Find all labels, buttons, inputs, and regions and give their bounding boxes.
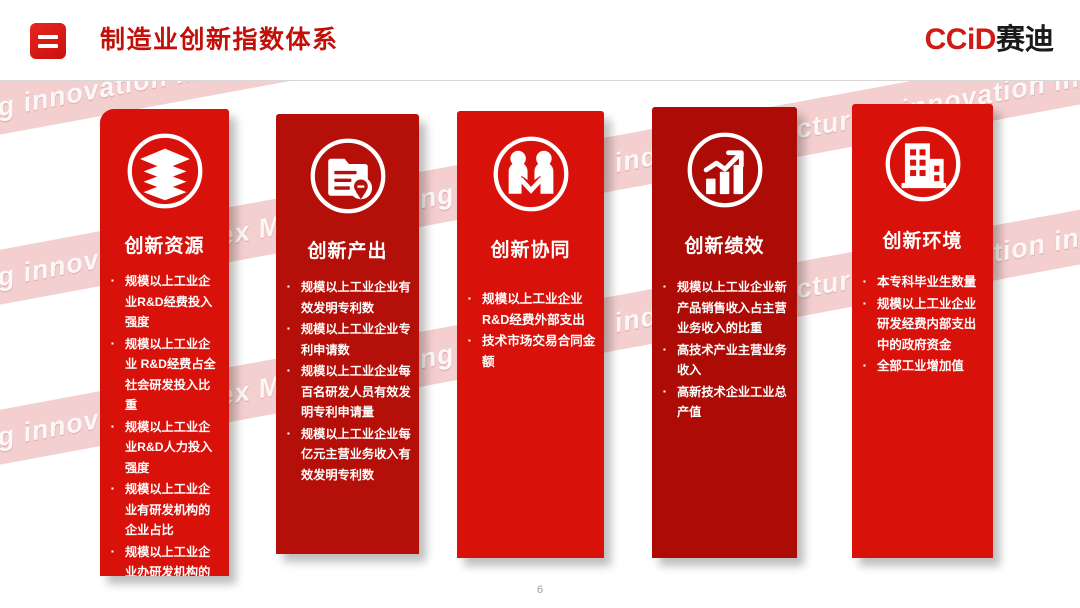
card-heading: 创新环境 — [852, 226, 993, 253]
card-innovation-resources[interactable]: 创新资源 规模以上工业企业R&D经费投入强度 规模以上工业企业 R&D经费占全社… — [100, 109, 229, 576]
equals-bars-icon — [30, 23, 66, 59]
list-item: 规模以上工业企业办研发机构的仪器和设备原价 — [109, 542, 222, 577]
card-innovation-output[interactable]: 创新产出 规模以上工业企业有效发明专利数 规模以上工业企业专利申请数 规模以上工… — [276, 114, 419, 554]
list-item: 规模以上工业企业研发经费内部支出中的政府资金 — [861, 294, 986, 356]
card-bullet-list: 本专科毕业生数量 规模以上工业企业研发经费内部支出中的政府资金 全部工业增加值 — [861, 272, 986, 378]
brand-logo: CCiD赛迪 — [925, 22, 1054, 58]
list-item: 规模以上工业企业R&D人力投入强度 — [109, 417, 222, 479]
list-item: 规模以上工业企业每百名研发人员有效发明专利申请量 — [285, 361, 412, 423]
card-heading: 创新协同 — [457, 235, 604, 262]
slide-canvas: Manufacturing innovation index Manufactu… — [0, 0, 1080, 608]
list-item: 规模以上工业企业每亿元主营业务收入有效发明专利数 — [285, 424, 412, 486]
list-item: 高技术产业主营业务收入 — [661, 340, 790, 381]
slide-header: 制造业创新指数体系 CCiD赛迪 — [0, 0, 1080, 81]
brand-logo-latin: CCiD — [925, 23, 996, 56]
card-innovation-environment[interactable]: 创新环境 本专科毕业生数量 规模以上工业企业研发经费内部支出中的政府资金 全部工… — [852, 104, 993, 558]
list-item: 本专科毕业生数量 — [861, 272, 986, 293]
handshake-people-icon — [488, 131, 574, 217]
list-item: 规模以上工业企业 R&D经费占全社会研发投入比重 — [109, 334, 222, 416]
card-heading: 创新产出 — [276, 236, 419, 263]
page-number: 6 — [0, 584, 1080, 596]
cards-container: 创新资源 规模以上工业企业R&D经费投入强度 规模以上工业企业 R&D经费占全社… — [0, 81, 1080, 608]
icon-bar-bottom — [38, 44, 58, 48]
list-item: 规模以上工业企业R&D经费投入强度 — [109, 271, 222, 333]
layers-stack-icon — [122, 128, 208, 214]
list-item: 规模以上工业企业有效发明专利数 — [285, 277, 412, 318]
office-building-icon — [880, 121, 966, 207]
brand-logo-cn: 赛迪 — [996, 24, 1054, 56]
list-item: 规模以上工业企业新产品销售收入占主营业务收入的比重 — [661, 277, 790, 339]
card-bullet-list: 规模以上工业企业R&D经费外部支出 技术市场交易合同金额 — [466, 289, 597, 373]
list-item: 高新技术企业工业总产值 — [661, 382, 790, 423]
list-item: 技术市场交易合同金额 — [466, 331, 597, 372]
list-item: 全部工业增加值 — [861, 356, 986, 377]
list-item: 规模以上工业企业R&D经费外部支出 — [466, 289, 597, 330]
card-bullet-list: 规模以上工业企业有效发明专利数 规模以上工业企业专利申请数 规模以上工业企业每百… — [285, 277, 412, 486]
card-heading: 创新绩效 — [652, 231, 797, 258]
card-heading: 创新资源 — [100, 231, 229, 258]
list-item: 规模以上工业企业有研发机构的企业占比 — [109, 479, 222, 541]
card-innovation-performance[interactable]: 创新绩效 规模以上工业企业新产品销售收入占主营业务收入的比重 高技术产业主营业务… — [652, 107, 797, 558]
card-bullet-list: 规模以上工业企业R&D经费投入强度 规模以上工业企业 R&D经费占全社会研发投入… — [109, 271, 222, 576]
growth-chart-icon — [682, 127, 768, 213]
card-innovation-collaboration[interactable]: 创新协同 规模以上工业企业R&D经费外部支出 技术市场交易合同金额 — [457, 111, 604, 558]
card-bullet-list: 规模以上工业企业新产品销售收入占主营业务收入的比重 高技术产业主营业务收入 高新… — [661, 277, 790, 424]
header-divider — [0, 80, 1080, 81]
page-title: 制造业创新指数体系 — [100, 20, 339, 60]
document-certificate-icon — [305, 133, 391, 219]
list-item: 规模以上工业企业专利申请数 — [285, 319, 412, 360]
icon-bar-top — [38, 35, 58, 39]
